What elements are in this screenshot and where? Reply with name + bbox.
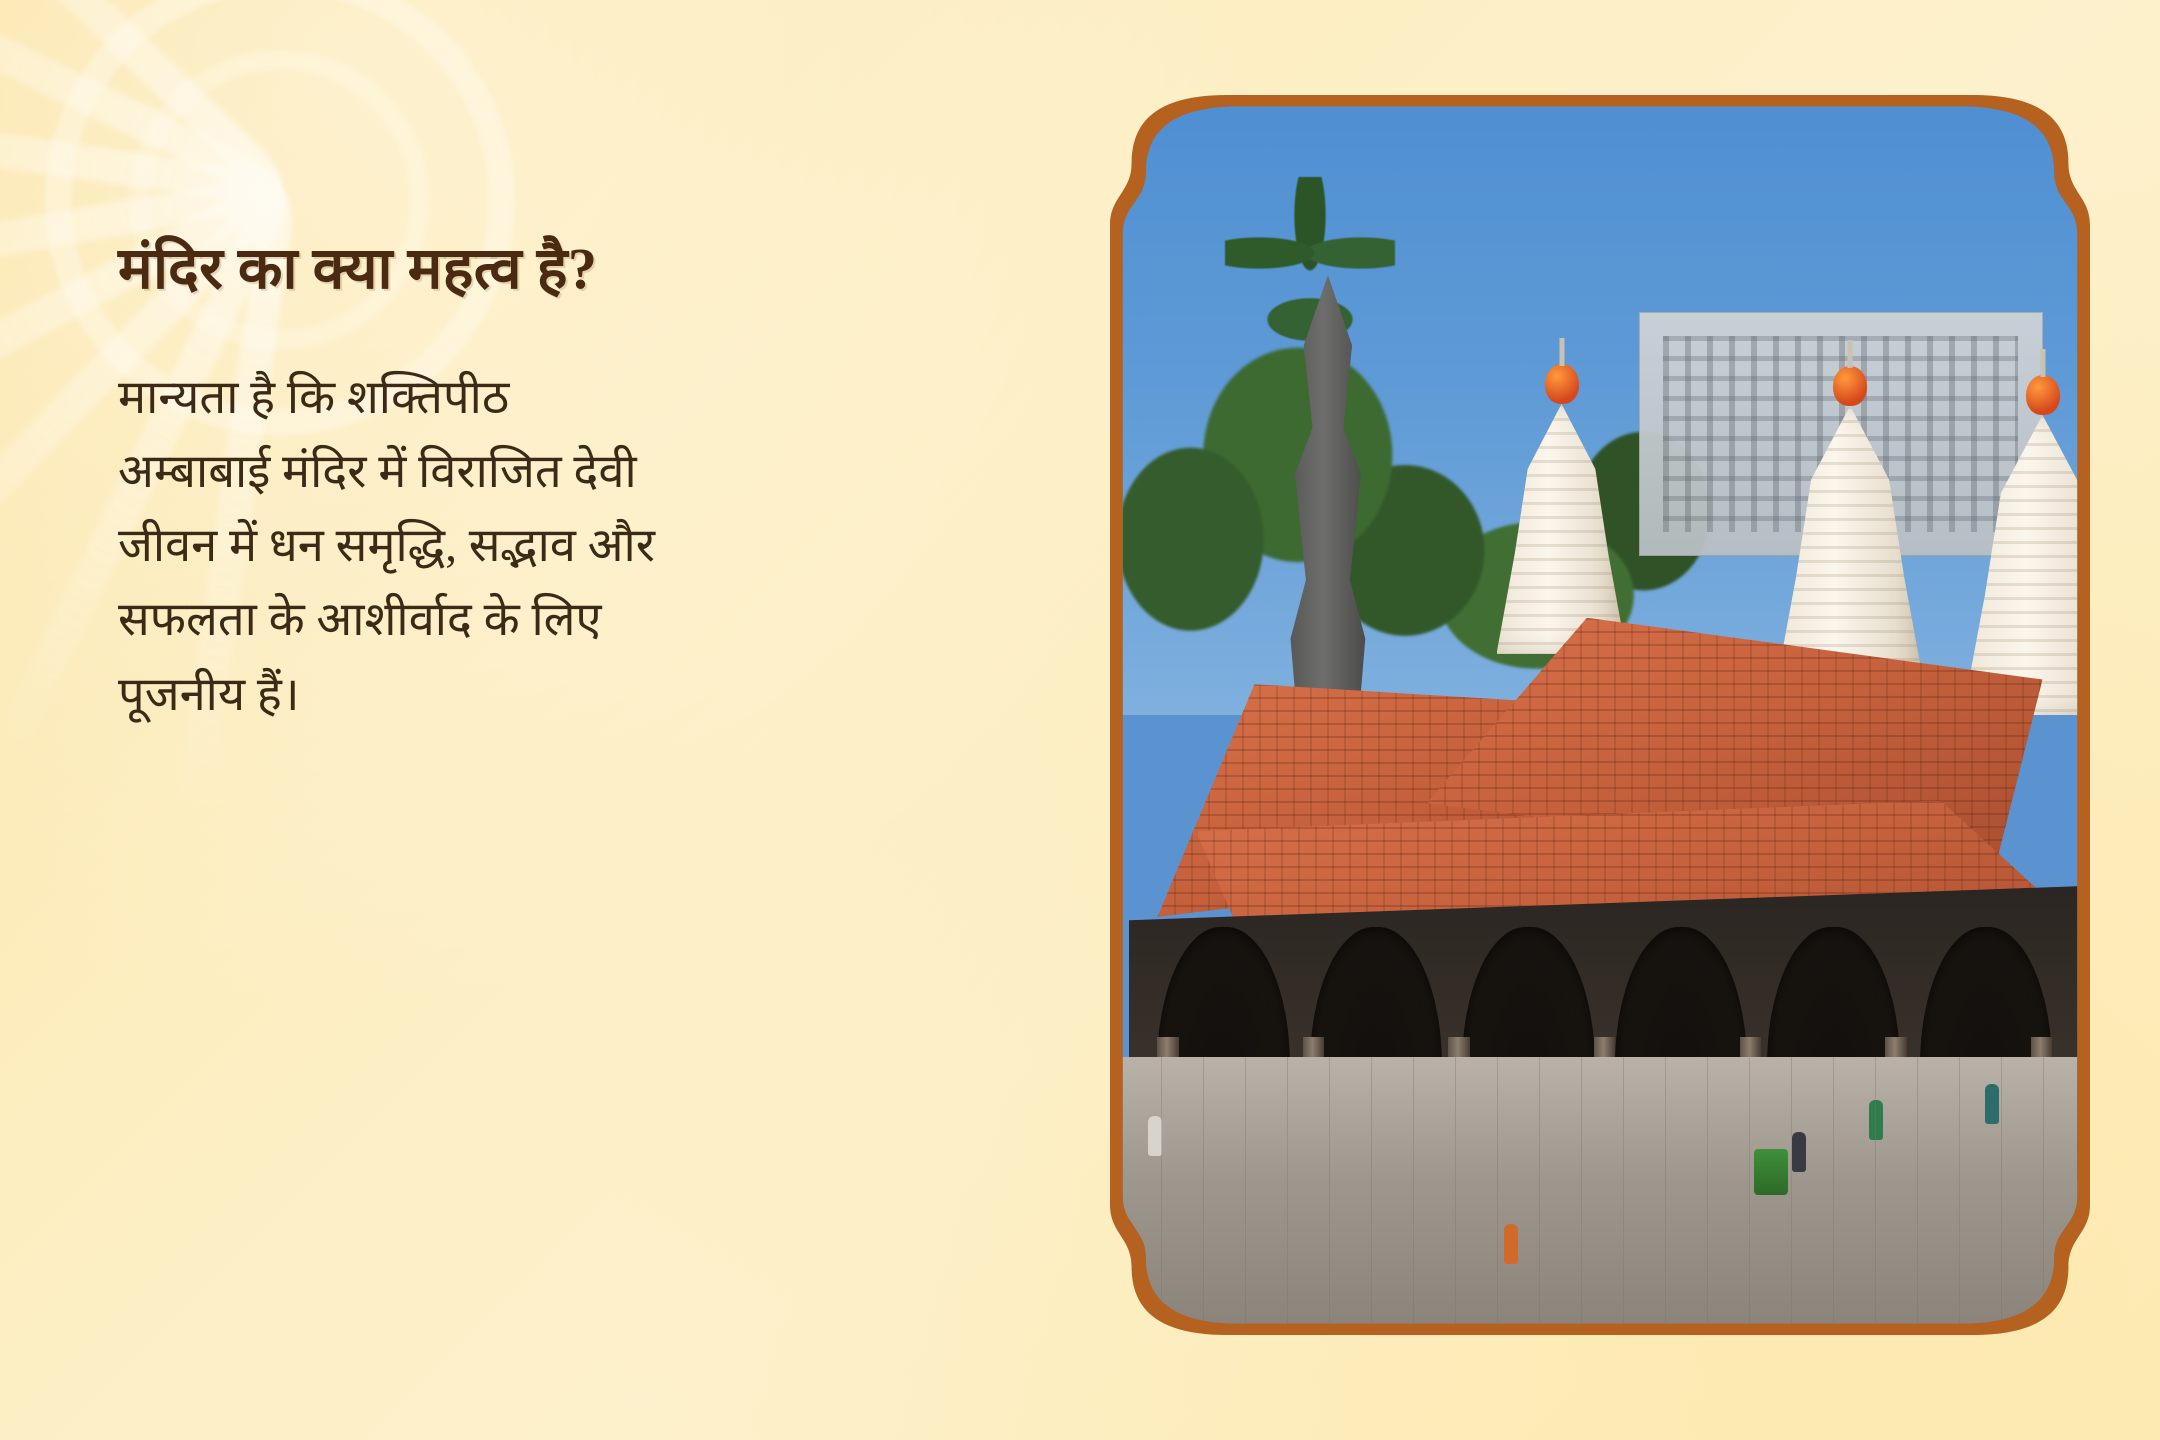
person: [1504, 1224, 1518, 1264]
body-line: सफलता के आशीर्वाद के लिए: [118, 583, 958, 657]
text-column: मंदिर का क्या महत्व है? मान्यता है कि शक…: [118, 236, 998, 732]
body-line: मान्यता है कि शक्तिपीठ: [118, 361, 958, 435]
temple-photo: [1119, 104, 2081, 1326]
person: [1869, 1100, 1883, 1140]
frame-inner: [1119, 104, 2081, 1326]
person: [1985, 1084, 1999, 1124]
person: [1148, 1116, 1162, 1156]
temple-photo-frame: [1110, 95, 2090, 1335]
infographic-card: मंदिर का क्या महत्व है? मान्यता है कि शक…: [0, 0, 2160, 1440]
page-title: मंदिर का क्या महत्व है?: [118, 236, 998, 303]
body-line: पूजनीय हैं।: [118, 658, 958, 732]
body-line: जीवन में धन समृद्धि, सद्भाव और: [118, 509, 958, 583]
body-paragraph: मान्यता है कि शक्तिपीठ अम्बाबाई मंदिर मे…: [118, 361, 958, 732]
trash-bin: [1754, 1149, 1788, 1195]
person: [1792, 1132, 1806, 1172]
body-line: अम्बाबाई मंदिर में विराजित देवी: [118, 435, 958, 509]
courtyard-ground: [1119, 1057, 2081, 1326]
